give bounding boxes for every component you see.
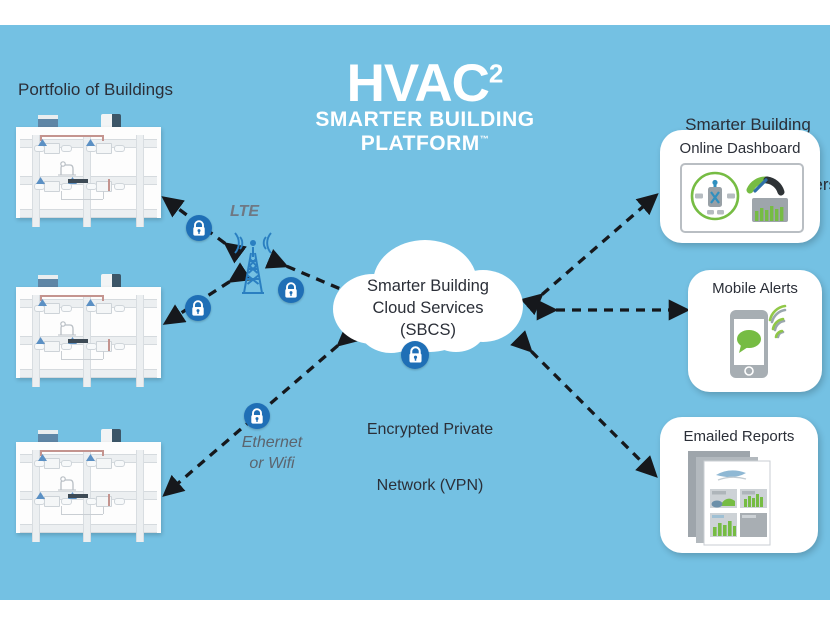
vpn-caption-line1: Encrypted Private — [345, 421, 515, 440]
sensor-icon-3 — [38, 134, 47, 142]
mobile-phone-message-icon — [714, 298, 806, 389]
diffuser-4 — [114, 145, 125, 152]
air-handler-3 — [44, 181, 60, 192]
duct-drop-2 — [102, 135, 104, 141]
lte-cell-tower-icon — [222, 223, 284, 295]
lock-icon-cloud — [401, 341, 429, 369]
diagram-canvas: HVAC2 SMARTER BUILDING PLATFORM™ Portfol… — [0, 25, 830, 600]
building-body — [16, 287, 161, 378]
diffuser-7 — [86, 183, 97, 190]
duct-drop-2 — [102, 450, 104, 456]
card-online-dashboard[interactable]: Online Dashboard — [660, 130, 820, 243]
zone-line-v1 — [61, 351, 62, 359]
card-title-mobile: Mobile Alerts — [688, 280, 822, 297]
rooftop-unit-a-cap — [38, 115, 58, 119]
zone-line-v2 — [103, 191, 104, 199]
zone-line-v1 — [61, 191, 62, 199]
diffuser-2 — [61, 305, 72, 312]
diffuser-4 — [114, 305, 125, 312]
stacked-report-pages-icon — [688, 449, 798, 552]
diffuser-7 — [86, 498, 97, 505]
cloud-label-line2: Cloud Services — [333, 298, 523, 320]
duct-drop-3 — [108, 179, 110, 191]
platform-title: HVAC2 SMARTER BUILDING PLATFORM™ — [255, 53, 595, 156]
duct-drop-2 — [102, 295, 104, 301]
card-title-dashboard: Online Dashboard — [660, 140, 820, 157]
ethernet-or-wifi-label: Ethernet or Wifi — [236, 433, 308, 475]
sensor-icon-1 — [36, 172, 45, 180]
interior-wall-3 — [136, 135, 144, 227]
building-2[interactable] — [16, 270, 161, 378]
card-mobile-alerts[interactable]: Mobile Alerts — [688, 270, 822, 392]
card-emailed-reports[interactable]: Emailed Reports — [660, 417, 818, 553]
air-handler-3 — [44, 496, 60, 507]
air-handler-2 — [96, 303, 112, 314]
lock-icon-lte-lower — [185, 295, 211, 321]
lte-label: LTE — [230, 203, 259, 222]
duct-drop-3 — [108, 494, 110, 506]
occupant-icon — [56, 161, 78, 182]
diagram-stage: HVAC2 SMARTER BUILDING PLATFORM™ Portfol… — [0, 0, 830, 622]
duct-drop-3 — [108, 339, 110, 351]
lock-icon-lte-upper — [186, 215, 212, 241]
occupant-icon — [56, 476, 78, 497]
diffuser-8 — [114, 343, 125, 350]
zone-line-h — [61, 514, 103, 515]
sensor-icon-4 — [86, 294, 95, 302]
trademark-symbol: ™ — [480, 134, 490, 144]
building-3[interactable] — [16, 425, 161, 533]
sensor-icon-3 — [38, 449, 47, 457]
lock-icon-tower-cloud — [278, 277, 304, 303]
zone-line-v1 — [61, 506, 62, 514]
building-1[interactable] — [16, 110, 161, 218]
air-handler-2 — [96, 143, 112, 154]
portfolio-of-buildings-label: Portfolio of Buildings — [18, 80, 173, 100]
sensor-icon-1 — [36, 487, 45, 495]
occupant-icon — [56, 321, 78, 342]
diffuser-7 — [86, 343, 97, 350]
diffuser-2 — [61, 145, 72, 152]
zone-line-v2 — [103, 506, 104, 514]
diffuser-2 — [61, 460, 72, 467]
air-handler-2 — [96, 458, 112, 469]
rooftop-unit-a-cap — [38, 430, 58, 434]
zone-line-h — [61, 359, 103, 360]
card-title-reports: Emailed Reports — [660, 428, 818, 445]
building-body — [16, 127, 161, 218]
vpn-caption: Encrypted Private Network (VPN) — [345, 383, 515, 534]
diffuser-8 — [114, 183, 125, 190]
diffuser-4 — [114, 460, 125, 467]
rooftop-unit-a-cap — [38, 275, 58, 279]
sensor-icon-4 — [86, 449, 95, 457]
cloud-label-line1: Smarter Building — [333, 276, 523, 298]
cloud-label-line3: (SBCS) — [333, 320, 523, 342]
title-superscript: 2 — [489, 58, 503, 88]
arrow-cloud-reports — [520, 340, 645, 465]
title-subtitle: SMARTER BUILDING PLATFORM™ — [255, 108, 595, 156]
subtitle-text: SMARTER BUILDING PLATFORM — [315, 108, 534, 155]
cloud-label: Smarter Building Cloud Services (SBCS) — [333, 276, 523, 341]
dashboard-gauge-icon — [680, 163, 804, 233]
air-handler-3 — [44, 341, 60, 352]
sensor-icon-1 — [36, 332, 45, 340]
sensor-icon-4 — [86, 134, 95, 142]
title-main-text: HVAC — [347, 54, 489, 113]
zone-line-h — [61, 199, 103, 200]
zone-line-v2 — [103, 351, 104, 359]
interior-wall-3 — [136, 295, 144, 387]
sbcs-cloud[interactable]: Smarter Building Cloud Services (SBCS) — [333, 240, 523, 370]
lock-icon-ethernet — [244, 403, 270, 429]
vpn-caption-line2: Network (VPN) — [345, 477, 515, 496]
sensor-icon-3 — [38, 294, 47, 302]
building-body — [16, 442, 161, 533]
interior-wall-3 — [136, 450, 144, 542]
title-hvac: HVAC2 — [347, 53, 504, 114]
diffuser-8 — [114, 498, 125, 505]
arrow-cloud-dashboard — [530, 205, 645, 305]
